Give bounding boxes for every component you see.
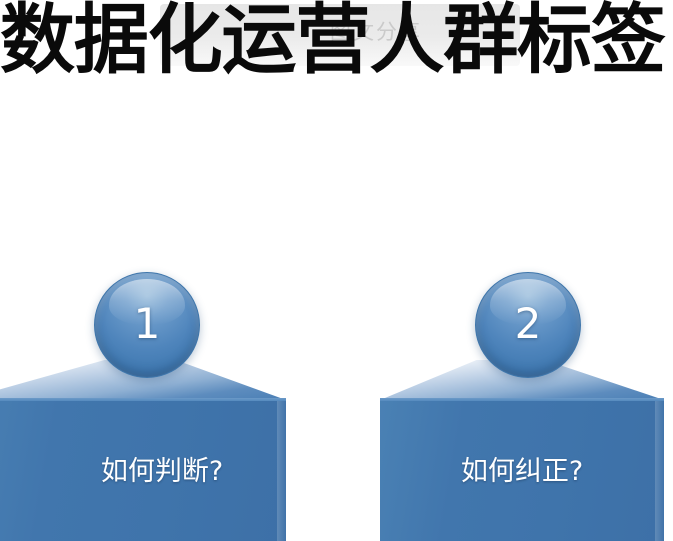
shape-label-2: 如何纠正? <box>380 456 664 488</box>
step-sphere-2[interactable]: 2 <box>475 272 581 378</box>
presentation-slide: 图文分享 数据化运营人群标签 如何判断? 1 如何纠正? 2 <box>0 0 673 541</box>
step-shape-1[interactable]: 如何判断? <box>0 360 286 541</box>
slide-title: 数据化运营人群标签 <box>0 0 663 84</box>
step-number-2: 2 <box>476 273 580 377</box>
step-shape-2[interactable]: 如何纠正? <box>380 360 664 541</box>
step-number-1: 1 <box>95 273 199 377</box>
step-sphere-1[interactable]: 1 <box>94 272 200 378</box>
shape-label-1: 如何判断? <box>0 456 324 488</box>
